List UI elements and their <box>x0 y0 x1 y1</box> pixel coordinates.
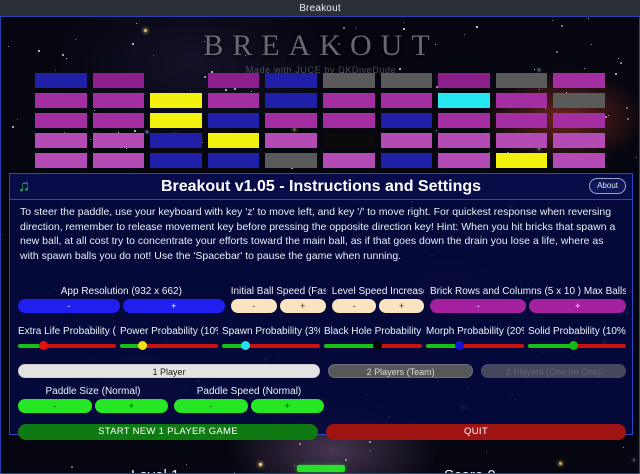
brick <box>381 73 433 88</box>
quit-button[interactable]: QUIT <box>326 424 626 440</box>
probability-label: Black Hole Probability (5%) <box>324 326 422 337</box>
brick <box>208 153 260 168</box>
paddle-settings-row: Paddle Size (Normal)Paddle Speed (Normal… <box>10 386 634 413</box>
brick <box>496 153 548 168</box>
brick <box>496 93 548 108</box>
paddle-labels: Paddle Size (Normal)Paddle Speed (Normal… <box>10 386 634 397</box>
probability-row: Extra Life Probability (2%)Power Probabi… <box>10 326 634 350</box>
setting-stepper: -+ <box>18 299 225 313</box>
probability-sliders <box>10 341 634 350</box>
brick <box>265 153 317 168</box>
probability-slider[interactable] <box>324 341 422 350</box>
setting-label: App Resolution (932 x 662) <box>18 286 225 297</box>
slider-fill <box>426 344 459 348</box>
brick <box>35 73 87 88</box>
probability-label: Morph Probability (20%) <box>426 326 524 337</box>
player-mode-buttons: 1 Player2 Players (Team)2 Players (One o… <box>10 364 634 378</box>
brick <box>438 73 490 88</box>
brick <box>553 153 605 168</box>
setting-stepper: -+ <box>332 299 424 313</box>
settings-labels: App Resolution (932 x 662)Initial Ball S… <box>10 286 634 297</box>
probability-slider[interactable] <box>18 341 116 350</box>
brick <box>208 113 260 128</box>
window-titlebar: Breakout <box>0 0 640 16</box>
setting-label: Brick Rows and Columns (5 x 10 ) Max Bal… <box>430 286 626 297</box>
player-mode-row: 1 Player2 Players (Team)2 Players (One o… <box>10 364 634 378</box>
brick <box>381 93 433 108</box>
slider-fill <box>324 344 377 348</box>
probability-label: Solid Probability (10%) <box>528 326 626 337</box>
brick <box>438 93 490 108</box>
brick <box>208 73 260 88</box>
settings-buttons: -+-+-+-+ <box>10 299 634 313</box>
brick-row <box>35 73 605 88</box>
brick <box>35 153 87 168</box>
brick-row <box>35 113 605 128</box>
music-note-icon[interactable]: ♫ <box>18 177 30 197</box>
paddle-plus-button[interactable]: + <box>251 399 325 413</box>
setting-minus-button[interactable]: - <box>430 299 527 313</box>
setting-minus-button[interactable]: - <box>18 299 120 313</box>
setting-stepper: -+ <box>231 299 326 313</box>
brick <box>323 133 375 148</box>
brick <box>323 73 375 88</box>
setting-plus-button[interactable]: + <box>379 299 424 313</box>
setting-stepper: -+ <box>430 299 626 313</box>
brick <box>150 93 202 108</box>
brick <box>35 133 87 148</box>
probability-slider[interactable] <box>528 341 626 350</box>
setting-label: Level Speed Increase (Ti... <box>332 286 424 297</box>
brick <box>438 133 490 148</box>
brick <box>438 113 490 128</box>
paddle-minus-button[interactable]: - <box>174 399 248 413</box>
probability-labels: Extra Life Probability (2%)Power Probabi… <box>10 326 634 337</box>
brick <box>208 93 260 108</box>
slider-thumb[interactable] <box>455 341 464 350</box>
paddle-buttons: -+-+ <box>10 399 634 413</box>
brick <box>553 113 605 128</box>
brick <box>93 153 145 168</box>
brick <box>150 73 202 88</box>
brick-field <box>35 73 605 173</box>
brick <box>381 153 433 168</box>
brick <box>265 113 317 128</box>
brick <box>553 73 605 88</box>
setting-plus-button[interactable]: + <box>280 299 326 313</box>
instructions-text: To steer the paddle, use your keyboard w… <box>10 200 632 263</box>
probability-slider[interactable] <box>120 341 218 350</box>
brick <box>265 73 317 88</box>
setting-plus-button[interactable]: + <box>529 299 626 313</box>
score-indicator: Score 0 <box>444 467 496 474</box>
probability-label: Spawn Probability (3%) <box>222 326 320 337</box>
window-title: Breakout <box>299 3 341 14</box>
action-row: START NEW 1 PLAYER GAME QUIT <box>10 424 634 440</box>
settings-row: App Resolution (932 x 662)Initial Ball S… <box>10 286 634 313</box>
start-game-button[interactable]: START NEW 1 PLAYER GAME <box>18 424 318 440</box>
brick <box>265 133 317 148</box>
setting-plus-button[interactable]: + <box>123 299 225 313</box>
brick <box>93 93 145 108</box>
brick-row <box>35 153 605 168</box>
game-area: BREAKOUT Made with JUCE by DKDiveDude ♫ … <box>0 16 640 474</box>
brick <box>323 153 375 168</box>
slider-thumb[interactable] <box>138 341 147 350</box>
paddle-stepper: -+ <box>174 399 324 413</box>
brick <box>150 153 202 168</box>
setting-minus-button[interactable]: - <box>332 299 377 313</box>
brick <box>553 93 605 108</box>
brick <box>208 133 260 148</box>
paddle-plus-button[interactable]: + <box>95 399 169 413</box>
brick <box>93 133 145 148</box>
brick <box>381 133 433 148</box>
brick <box>93 113 145 128</box>
settings-panel-header: ♫ Breakout v1.05 - Instructions and Sett… <box>10 174 632 200</box>
brick-row <box>35 133 605 148</box>
brick <box>150 133 202 148</box>
about-button[interactable]: About <box>589 178 626 194</box>
player-paddle <box>297 465 345 472</box>
probability-label: Extra Life Probability (2%) <box>18 326 116 337</box>
slider-thumb[interactable] <box>241 341 250 350</box>
brick <box>553 133 605 148</box>
brick <box>323 113 375 128</box>
probability-slider[interactable] <box>222 341 320 350</box>
brick <box>265 93 317 108</box>
brick <box>323 93 375 108</box>
game-logo: BREAKOUT <box>1 29 640 63</box>
player-mode-button[interactable]: 2 Players (One on One) <box>481 364 626 378</box>
player-mode-button[interactable]: 2 Players (Team) <box>328 364 473 378</box>
slider-fill <box>528 344 573 348</box>
brick <box>35 93 87 108</box>
paddle-setting-label: Paddle Speed (Normal) <box>174 386 324 397</box>
level-indicator: Level 1 <box>131 467 179 474</box>
slider-thumb[interactable] <box>373 341 382 350</box>
paddle-setting-label: Paddle Size (Normal) <box>18 386 168 397</box>
probability-label: Power Probability (10%) <box>120 326 218 337</box>
brick <box>381 113 433 128</box>
panel-title: Breakout v1.05 - Instructions and Settin… <box>161 178 481 196</box>
brick-row <box>35 93 605 108</box>
player-mode-button[interactable]: 1 Player <box>18 364 320 378</box>
brick <box>496 113 548 128</box>
paddle-stepper: -+ <box>18 399 168 413</box>
breakout-app: Breakout BREAKOUT Made with JUCE by DKDi… <box>0 0 640 474</box>
brick <box>496 133 548 148</box>
brick <box>35 113 87 128</box>
paddle-minus-button[interactable]: - <box>18 399 92 413</box>
setting-minus-button[interactable]: - <box>231 299 277 313</box>
setting-label: Initial Ball Speed (Fast) <box>231 286 326 297</box>
brick <box>150 113 202 128</box>
brick <box>438 153 490 168</box>
settings-panel: ♫ Breakout v1.05 - Instructions and Sett… <box>9 173 633 435</box>
slider-thumb[interactable] <box>569 341 578 350</box>
brick <box>93 73 145 88</box>
probability-slider[interactable] <box>426 341 524 350</box>
slider-thumb[interactable] <box>39 341 48 350</box>
brick <box>496 73 548 88</box>
